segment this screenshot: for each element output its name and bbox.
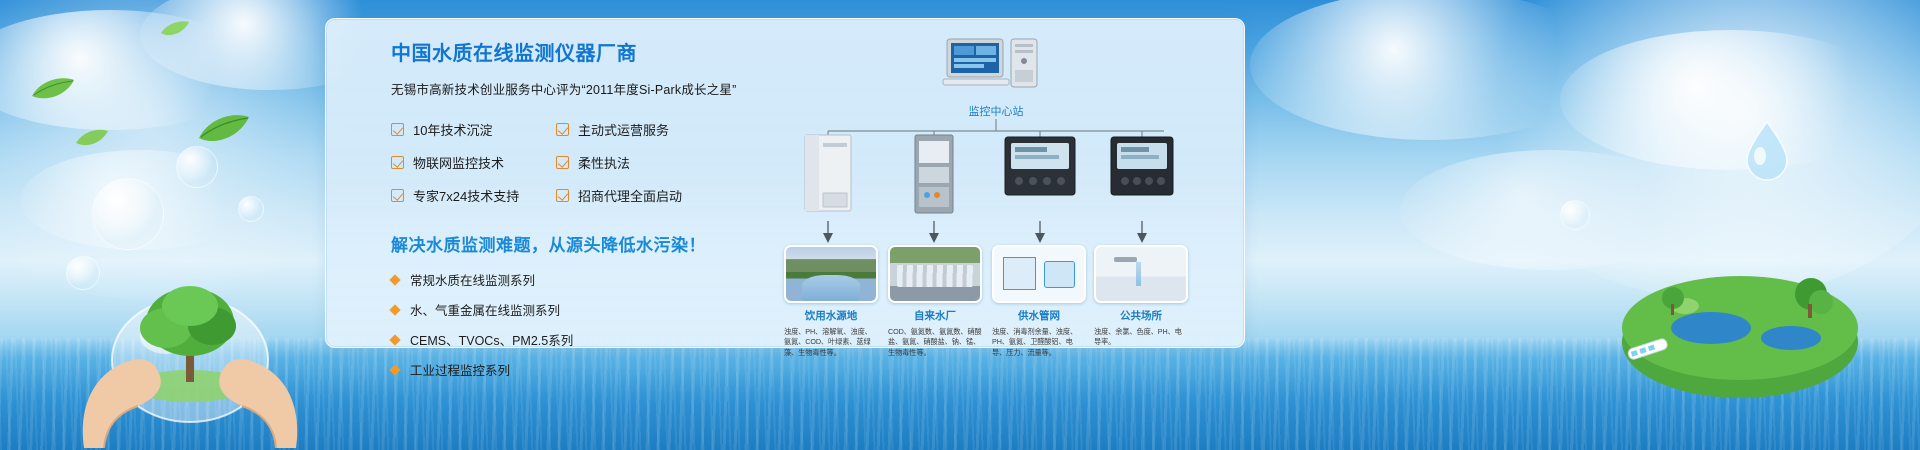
feature-label: 招商代理全面启动 (578, 186, 682, 205)
product-line-list: 常规水质在线监测系列 水、气重金属在线监测系列 CEMS、TVOCs、PM2.5… (391, 270, 751, 379)
center-station-label: 监控中心站 (926, 103, 1066, 119)
feature-item: 物联网监控技术 (391, 153, 556, 172)
list-item: CEMS、TVOCs、PM2.5系列 (391, 330, 751, 349)
feature-item: 柔性执法 (556, 153, 751, 172)
diamond-bullet-icon (389, 334, 400, 345)
list-item: 水、气重金属在线监测系列 (391, 300, 751, 319)
bubble-2 (176, 146, 218, 188)
checkbox-icon (391, 189, 404, 202)
feature-item: 10年技术沉淀 (391, 120, 556, 139)
system-topology-diagram: 监控中心站 (756, 33, 1226, 343)
scene-card: 公共场所 浊度、余氯、色度、PH、电导率。 (1094, 245, 1188, 348)
checkbox-icon (391, 123, 404, 136)
list-item: 工业过程监控系列 (391, 360, 751, 379)
award-subtitle: 无锡市高新技术创业服务中心评为“2011年度Si-Park成长之星” (391, 79, 751, 98)
product-line-label: 工业过程监控系列 (410, 360, 510, 379)
checkbox-icon (556, 123, 569, 136)
scene-description: 浊度、PH、溶解氧、浊度、氨氮、COD、叶绿素、蓝绿藻、生物毒性等。 (784, 327, 878, 358)
product-line-label: CEMS、TVOCs、PM2.5系列 (410, 330, 573, 349)
checkbox-icon (556, 156, 569, 169)
scene-description: 浊度、余氯、色度、PH、电导率。 (1094, 327, 1188, 348)
feature-item: 专家7x24技术支持 (391, 186, 556, 205)
feature-item: 招商代理全面启动 (556, 186, 751, 205)
feature-checklist: 10年技术沉淀 主动式运营服务 物联网监控技术 柔性执法 专家7x24技术支持 … (391, 120, 751, 205)
feature-label: 物联网监控技术 (413, 153, 504, 172)
computer-monitor-icon (941, 37, 1051, 99)
leaf-icon-4 (160, 20, 190, 38)
left-text-column: 中国水质在线监测仪器厂商 无锡市高新技术创业服务中心评为“2011年度Si-Pa… (391, 41, 751, 390)
leaf-icon-1 (30, 76, 76, 102)
feature-label: 10年技术沉淀 (413, 120, 492, 139)
device-controller-panel-a (990, 133, 1090, 199)
scene-title: 公共场所 (1094, 308, 1188, 323)
device-cabinet-analyzer (778, 133, 878, 215)
checkbox-icon (556, 189, 569, 202)
diamond-bullet-icon (389, 304, 400, 315)
scene-title: 饮用水源地 (784, 308, 878, 323)
scene-photo (784, 245, 878, 303)
scene-card: 饮用水源地 浊度、PH、溶解氧、浊度、氨氮、COD、叶绿素、蓝绿藻、生物毒性等。 (784, 245, 878, 358)
product-line-label: 常规水质在线监测系列 (410, 270, 535, 289)
content-card: 中国水质在线监测仪器厂商 无锡市高新技术创业服务中心评为“2011年度Si-Pa… (325, 18, 1245, 348)
bubble-5 (1560, 200, 1590, 230)
feature-label: 柔性执法 (578, 153, 630, 172)
diamond-bullet-icon (389, 274, 400, 285)
hands-holding-tree-illustration (60, 210, 320, 450)
device-rack-analyzer (884, 133, 984, 215)
checkbox-icon (391, 156, 404, 169)
device-controller-panel-b (1092, 133, 1192, 199)
list-item: 常规水质在线监测系列 (391, 270, 751, 289)
scene-description: COD、氨氮数、氨氮数、硝酸盐、氨氮、硝酸盐、钠、锰、生物毒性等。 (888, 327, 982, 358)
scene-card: 自来水厂 COD、氨氮数、氨氮数、硝酸盐、氨氮、硝酸盐、钠、锰、生物毒性等。 (888, 245, 982, 358)
feature-label: 专家7x24技术支持 (413, 186, 519, 205)
leaf-icon-2 (75, 128, 109, 148)
scene-photo (992, 245, 1086, 303)
feature-label: 主动式运营服务 (578, 120, 669, 139)
scene-title: 供水管网 (992, 308, 1086, 323)
scene-photo (1094, 245, 1188, 303)
green-earth-illustration (1615, 242, 1865, 402)
scene-card: 供水管网 浊度、消毒剂余量、浊度、PH、氨氮、卫醛酸铝、电导、压力、流量等。 (992, 245, 1086, 358)
water-drop-icon (1744, 120, 1790, 182)
product-line-label: 水、气重金属在线监测系列 (410, 300, 560, 319)
diamond-bullet-icon (389, 364, 400, 375)
scene-description: 浊度、消毒剂余量、浊度、PH、氨氮、卫醛酸铝、电导、压力、流量等。 (992, 327, 1086, 358)
scene-title: 自来水厂 (888, 308, 982, 323)
scene-photo (888, 245, 982, 303)
leaf-icon-3 (196, 112, 252, 146)
feature-item: 主动式运营服务 (556, 120, 751, 139)
section-title: 解决水质监测难题，从源头降低水污染！ (391, 231, 751, 256)
page-title: 中国水质在线监测仪器厂商 (391, 41, 751, 67)
